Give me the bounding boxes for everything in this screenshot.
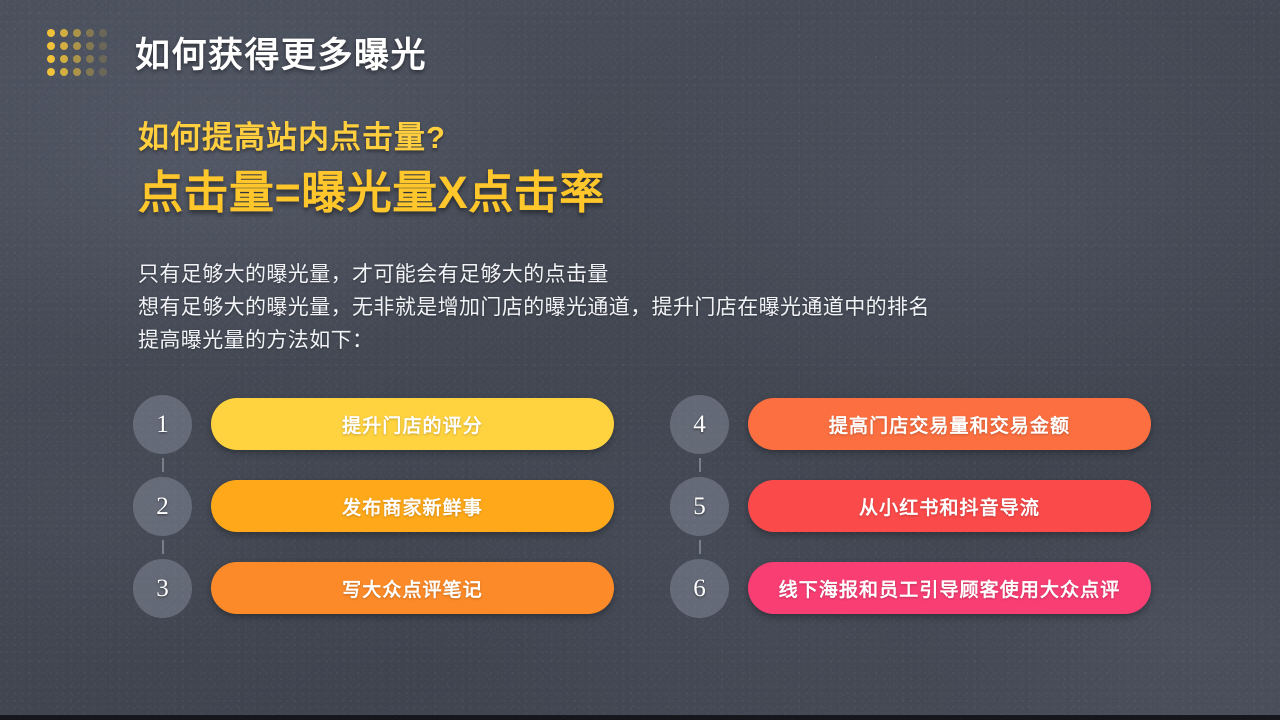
dot-cell xyxy=(70,26,83,39)
item-number-badge: 6 xyxy=(670,559,729,618)
list-item[interactable]: 3 写大众点评笔记 xyxy=(133,554,614,622)
hero-equation: 点击量=曝光量X点击率 xyxy=(138,166,605,221)
list-item[interactable]: 1 提升门店的评分 xyxy=(133,390,614,458)
item-pill[interactable]: 提高门店交易量和交易金额 xyxy=(748,398,1151,450)
item-pill[interactable]: 线下海报和员工引导顾客使用大众点评 xyxy=(748,562,1151,614)
item-number-badge: 1 xyxy=(133,395,192,454)
method-column-left: 1 提升门店的评分 2 发布商家新鲜事 3 写大众点评笔记 xyxy=(133,390,614,622)
body-line-2: 想有足够大的曝光量，无非就是增加门店的曝光通道，提升门店在曝光通道中的排名 xyxy=(138,291,930,324)
connector-line xyxy=(699,458,701,472)
dot-cell xyxy=(83,65,96,78)
item-pill[interactable]: 发布商家新鲜事 xyxy=(211,480,614,532)
slide-canvas: 如何获得更多曝光 如何提高站内点击量? 点击量=曝光量X点击率 只有足够大的曝光… xyxy=(0,0,1280,720)
method-list: 1 提升门店的评分 2 发布商家新鲜事 3 写大众点评笔记 4 提高门店交易量和… xyxy=(133,390,1151,622)
dot-cell xyxy=(57,52,70,65)
body-line-3: 提高曝光量的方法如下： xyxy=(138,324,930,357)
dot-cell xyxy=(44,65,57,78)
page-title: 如何获得更多曝光 xyxy=(135,27,427,78)
dot-cell xyxy=(57,39,70,52)
dot-cell xyxy=(44,52,57,65)
dot-cell xyxy=(70,39,83,52)
item-number-badge: 3 xyxy=(133,559,192,618)
list-item[interactable]: 2 发布商家新鲜事 xyxy=(133,472,614,540)
dot-cell xyxy=(70,52,83,65)
hero-block: 如何提高站内点击量? 点击量=曝光量X点击率 xyxy=(138,118,605,221)
list-item[interactable]: 6 线下海报和员工引导顾客使用大众点评 xyxy=(670,554,1151,622)
method-column-right: 4 提高门店交易量和交易金额 5 从小红书和抖音导流 6 线下海报和员工引导顾客… xyxy=(670,390,1151,622)
dot-cell xyxy=(83,52,96,65)
list-item[interactable]: 4 提高门店交易量和交易金额 xyxy=(670,390,1151,458)
hero-subtitle: 如何提高站内点击量? xyxy=(138,118,605,158)
dot-cell xyxy=(44,39,57,52)
item-number-badge: 5 xyxy=(670,477,729,536)
body-copy: 只有足够大的曝光量，才可能会有足够大的点击量 想有足够大的曝光量，无非就是增加门… xyxy=(138,258,930,357)
connector-line xyxy=(699,540,701,554)
dot-cell xyxy=(96,39,109,52)
dot-cell xyxy=(83,26,96,39)
connector-line xyxy=(162,458,164,472)
dot-cell xyxy=(57,65,70,78)
slide-header: 如何获得更多曝光 xyxy=(0,0,1280,104)
item-number-badge: 4 xyxy=(670,395,729,454)
dot-cell xyxy=(70,65,83,78)
dot-cell xyxy=(96,26,109,39)
connector-line xyxy=(162,540,164,554)
dot-cell xyxy=(57,26,70,39)
dot-cell xyxy=(96,65,109,78)
item-number-badge: 2 xyxy=(133,477,192,536)
dot-cell xyxy=(96,52,109,65)
item-pill[interactable]: 提升门店的评分 xyxy=(211,398,614,450)
dot-grid-icon xyxy=(44,26,109,78)
dot-cell xyxy=(83,39,96,52)
item-pill[interactable]: 写大众点评笔记 xyxy=(211,562,614,614)
list-item[interactable]: 5 从小红书和抖音导流 xyxy=(670,472,1151,540)
body-line-1: 只有足够大的曝光量，才可能会有足够大的点击量 xyxy=(138,258,930,291)
dot-cell xyxy=(44,26,57,39)
item-pill[interactable]: 从小红书和抖音导流 xyxy=(748,480,1151,532)
